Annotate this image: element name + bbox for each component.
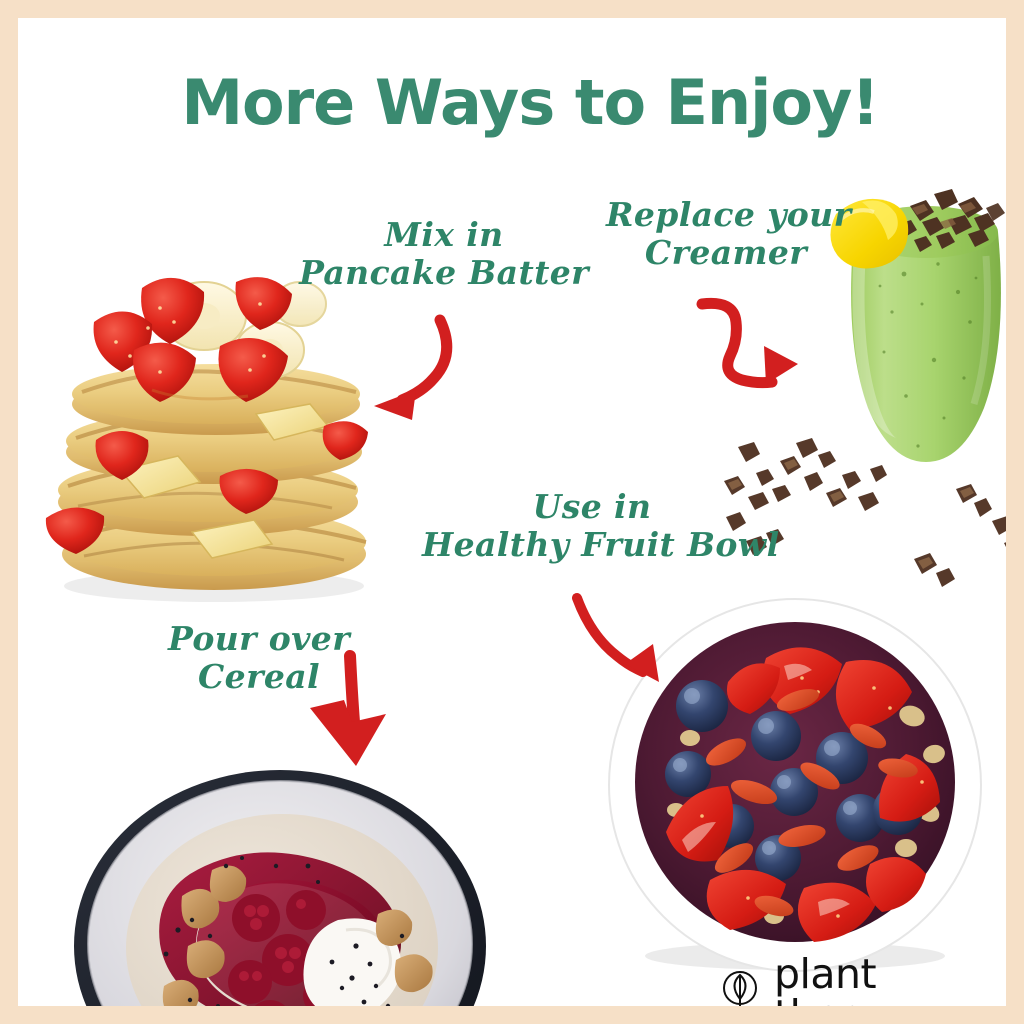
- callout-label-pancake: Mix in Pancake Batter: [294, 216, 594, 291]
- callout-creamer-line2: Creamer: [606, 234, 846, 272]
- callout-creamer-line1: Replace your: [606, 196, 846, 234]
- logo-wordmark: plant theory: [774, 954, 982, 1006]
- callout-label-fruitbowl: Use in Healthy Fruit Bowl: [422, 488, 762, 563]
- infographic-canvas: More Ways to Enjoy! Mix in Pancake Batte…: [0, 0, 1024, 1024]
- callout-pancake-line1: Mix in: [294, 216, 594, 254]
- callout-pancake-line2: Pancake Batter: [294, 254, 594, 292]
- curved-arrow-down-left-icon: [358, 306, 478, 426]
- straight-arrow-down-icon: [290, 644, 410, 774]
- leaf-in-circle-icon: [718, 969, 762, 1006]
- page-title: More Ways to Enjoy!: [18, 66, 1006, 139]
- s-curve-arrow-right-icon: [694, 290, 814, 410]
- infographic-card: More Ways to Enjoy! Mix in Pancake Batte…: [18, 18, 1006, 1006]
- callout-fruitbowl-line1: Use in: [422, 488, 762, 526]
- callout-label-creamer: Replace your Creamer: [606, 196, 846, 271]
- cereal-bowl-photo: [70, 770, 490, 1006]
- pancake-stack-photo: [24, 264, 394, 604]
- callout-fruitbowl-line2: Healthy Fruit Bowl: [422, 526, 762, 564]
- brand-logo: plant theory TM: [718, 966, 1006, 1006]
- curved-arrow-down-right-icon: [563, 586, 683, 696]
